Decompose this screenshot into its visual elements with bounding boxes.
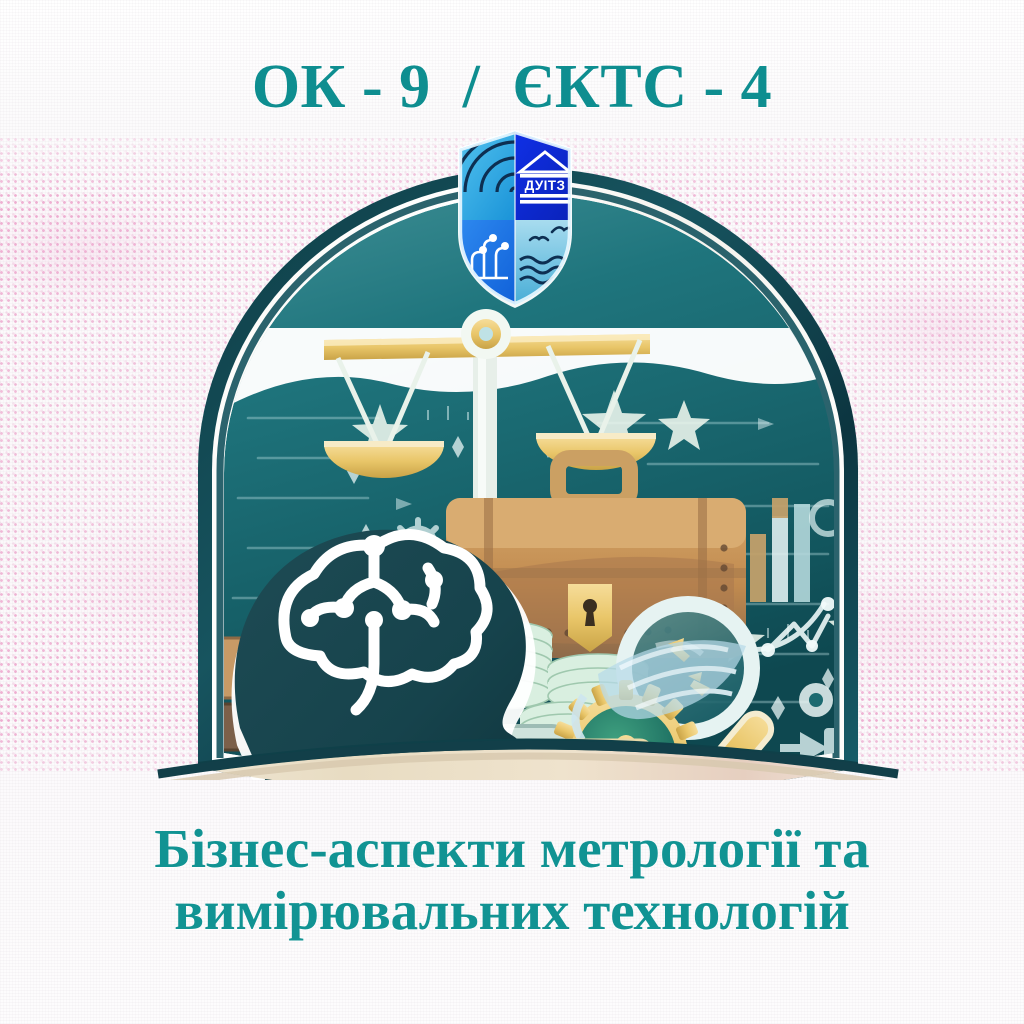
shield-svg: ДУІТЗ <box>452 128 578 310</box>
course-code-title: ОК - 9 / ЄКТС - 4 <box>0 52 1024 123</box>
shield-abbreviation: ДУІТЗ <box>525 178 566 193</box>
page-title-line-2: вимірювальних технологій <box>40 880 984 942</box>
page-title: Бізнес-аспекти метрології та вимірювальн… <box>40 818 984 941</box>
page-title-line-1: Бізнес-аспекти метрології та <box>40 818 984 880</box>
poster-canvas: 0.00 <box>0 0 1024 1024</box>
university-shield-emblem: ДУІТЗ <box>452 128 578 310</box>
